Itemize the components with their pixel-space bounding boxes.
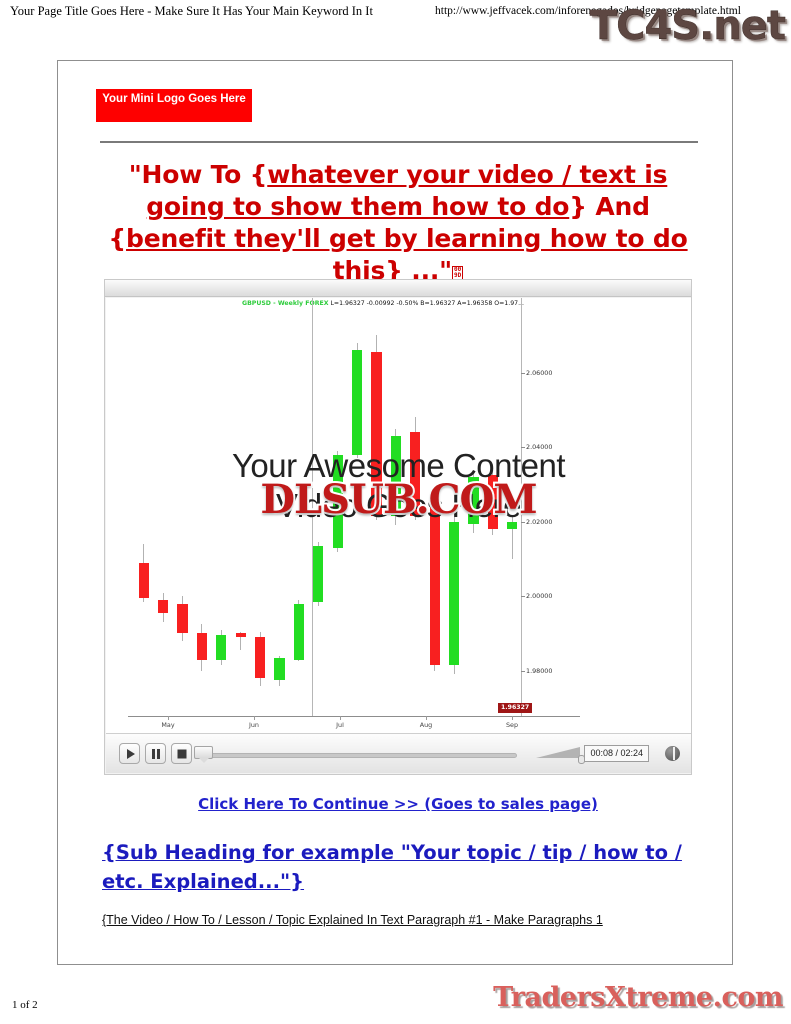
y-axis-tick bbox=[521, 596, 525, 597]
mini-logo: Your Mini Logo Goes Here bbox=[96, 89, 252, 122]
video-stage[interactable]: GBPUSD - Weekly FOREX L=1.96327 -0.00992… bbox=[106, 298, 691, 734]
x-axis-tick bbox=[340, 716, 341, 720]
chart-quote-values: L=1.96327 -0.00992 -0.50% B=1.96327 A=1.… bbox=[330, 300, 524, 307]
page-content: Your Mini Logo Goes Here "How To {whatev… bbox=[58, 61, 732, 964]
pause-icon bbox=[152, 749, 160, 759]
chart-current-price-tag: 1.96327 bbox=[498, 703, 532, 713]
x-axis-tick bbox=[254, 716, 255, 720]
tradersxtreme-watermark: TradersXtreme.com bbox=[493, 984, 783, 1011]
candle-body bbox=[449, 522, 459, 665]
stop-button[interactable] bbox=[171, 743, 192, 764]
page-headline: "How To {whatever your video / text is g… bbox=[88, 159, 708, 287]
candle-body bbox=[236, 633, 246, 637]
page-title-header: Your Page Title Goes Here - Make Sure It… bbox=[10, 4, 373, 19]
candle-body bbox=[255, 637, 265, 678]
chart-symbol-label: GBPUSD - Weekly FOREX bbox=[242, 300, 329, 307]
stop-icon bbox=[177, 749, 186, 758]
x-axis-tick bbox=[426, 716, 427, 720]
candle-body bbox=[274, 658, 284, 680]
candle-body bbox=[430, 503, 440, 665]
play-button[interactable] bbox=[119, 743, 140, 764]
cta-link[interactable]: Click Here To Continue >> (Goes to sales… bbox=[88, 795, 708, 813]
seek-slider-track[interactable] bbox=[197, 753, 517, 758]
missing-glyph-bottom: 9D bbox=[454, 272, 461, 279]
candle-body bbox=[216, 635, 226, 659]
volume-slider[interactable] bbox=[536, 744, 582, 762]
candle-body bbox=[294, 604, 304, 660]
candle-body bbox=[139, 563, 149, 598]
x-axis-label: Sep bbox=[506, 721, 518, 729]
candle-body bbox=[197, 633, 207, 659]
candle-body bbox=[313, 546, 323, 602]
chart-header-text: GBPUSD - Weekly FOREX L=1.96327 -0.00992… bbox=[242, 299, 524, 308]
video-player[interactable]: GBPUSD - Weekly FOREX L=1.96327 -0.00992… bbox=[104, 279, 692, 775]
y-axis-tick bbox=[521, 373, 525, 374]
volume-ramp-icon bbox=[536, 747, 580, 758]
fullscreen-icon[interactable] bbox=[665, 746, 680, 761]
time-display: 00:08 / 02:24 bbox=[584, 745, 649, 762]
page-number: 1 of 2 bbox=[12, 999, 38, 1011]
x-axis-label: May bbox=[161, 721, 174, 729]
candle-body bbox=[352, 350, 362, 454]
player-title-bar bbox=[105, 280, 691, 297]
x-axis-tick bbox=[512, 716, 513, 720]
player-controls: 00:08 / 02:24 bbox=[106, 733, 691, 773]
x-axis-label: Jun bbox=[249, 721, 259, 729]
y-axis-label: 1.98000 bbox=[526, 667, 552, 675]
pause-button[interactable] bbox=[145, 743, 166, 764]
page-sheet: Your Mini Logo Goes Here "How To {whatev… bbox=[57, 60, 733, 965]
seek-slider-handle[interactable] bbox=[194, 746, 213, 759]
candle-body bbox=[158, 600, 168, 613]
candle-body bbox=[177, 604, 187, 634]
headline-part-1: "How To { bbox=[129, 160, 268, 189]
body-paragraph: {The Video / How To / Lesson / Topic Exp… bbox=[102, 912, 702, 929]
y-axis-tick bbox=[521, 671, 525, 672]
play-icon bbox=[127, 749, 135, 759]
tc4s-watermark: TC4S.net bbox=[590, 6, 785, 46]
y-axis-label: 2.06000 bbox=[526, 369, 552, 377]
header-divider bbox=[100, 141, 698, 143]
x-axis-label: Aug bbox=[420, 721, 432, 729]
x-axis-label: Jul bbox=[336, 721, 344, 729]
x-axis-tick bbox=[168, 716, 169, 720]
y-axis-label: 2.00000 bbox=[526, 592, 552, 600]
sub-heading-link[interactable]: {Sub Heading for example "Your topic / t… bbox=[102, 838, 702, 896]
dlsub-watermark: DLSUB.COM bbox=[106, 476, 691, 523]
